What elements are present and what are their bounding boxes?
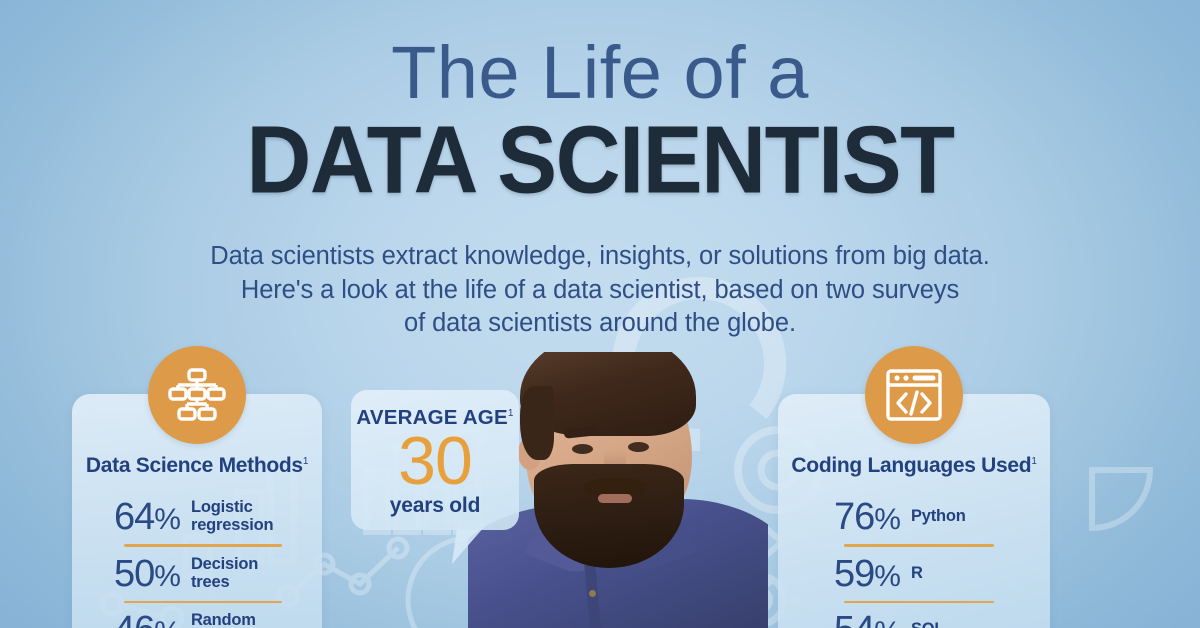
stat-label-line2: regression	[191, 517, 273, 535]
bubble-subtext: years old	[351, 494, 519, 518]
stat-percent: 50%	[114, 555, 180, 593]
org-chart-icon	[148, 346, 246, 444]
infographic-canvas: The Life of a DATA SCIENTIST Data scient…	[0, 0, 1200, 628]
code-window-icon	[865, 346, 963, 444]
footnote-marker: 1	[1031, 456, 1036, 467]
stat-label: Decision trees	[191, 556, 258, 592]
stat-label-line2: trees	[191, 574, 258, 592]
subtitle-line-1: Data scientists extract knowledge, insig…	[0, 240, 1200, 274]
stat-label: SQL	[911, 621, 944, 628]
stat-percent: 59%	[834, 555, 900, 593]
footnote-marker: 1	[303, 456, 308, 467]
card-heading-text: Data Science Methods	[86, 454, 303, 477]
photo-lip	[598, 494, 632, 503]
stat-label-line1: Logistic	[191, 498, 253, 516]
card-data-science-methods: Data Science Methods1 64% Logistic regre…	[72, 394, 322, 628]
stat-percent: 76%	[834, 498, 900, 536]
subtitle: Data scientists extract knowledge, insig…	[0, 240, 1200, 341]
stat-label: Python	[911, 508, 966, 526]
stat-row: 76% Python	[778, 490, 1050, 544]
card-coding-languages-used: Coding Languages Used1 76% Python 59% R …	[778, 394, 1050, 628]
photo-eyebrow-right	[620, 425, 656, 436]
stat-percent: 54%	[834, 611, 900, 628]
subtitle-line-3: of data scientists around the globe.	[0, 307, 1200, 341]
stat-row: 64% Logistic regression	[72, 490, 322, 544]
stat-row: 59% R	[778, 547, 1050, 601]
footnote-marker: 1	[508, 408, 514, 419]
speech-bubble-average-age: AVERAGE AGE1 30 years old	[351, 390, 519, 530]
stat-percent: 64%	[114, 498, 180, 536]
stat-label: Random forests	[191, 612, 256, 628]
subtitle-line-2: Here's a look at the life of a data scie…	[0, 274, 1200, 308]
stat-row: 46% Random forests	[72, 603, 322, 628]
photo-eye-right	[628, 442, 649, 452]
card-heading-methods: Data Science Methods1	[72, 454, 322, 478]
stat-label-line1: Random	[191, 611, 256, 628]
page-title: DATA SCIENTIST	[0, 113, 1200, 208]
script-title: The Life of a	[0, 36, 1200, 110]
stat-list-methods: 64% Logistic regression 50% Decision tre…	[72, 490, 322, 628]
stat-label-line1: Decision	[191, 555, 258, 573]
stat-percent: 46%	[114, 611, 180, 628]
stat-list-coding: 76% Python 59% R 54% SQL	[778, 490, 1050, 628]
photo-eye-left	[572, 444, 593, 454]
stat-row: 54% SQL	[778, 603, 1050, 628]
photo-sideburn	[520, 386, 554, 460]
photo-button	[589, 590, 596, 597]
stat-row: 50% Decision trees	[72, 547, 322, 601]
bubble-number: 30	[351, 426, 519, 497]
stat-label: R	[911, 565, 923, 583]
card-heading-coding: Coding Languages Used1	[778, 454, 1050, 478]
card-heading-text: Coding Languages Used	[791, 454, 1031, 477]
stat-label: Logistic regression	[191, 499, 273, 535]
